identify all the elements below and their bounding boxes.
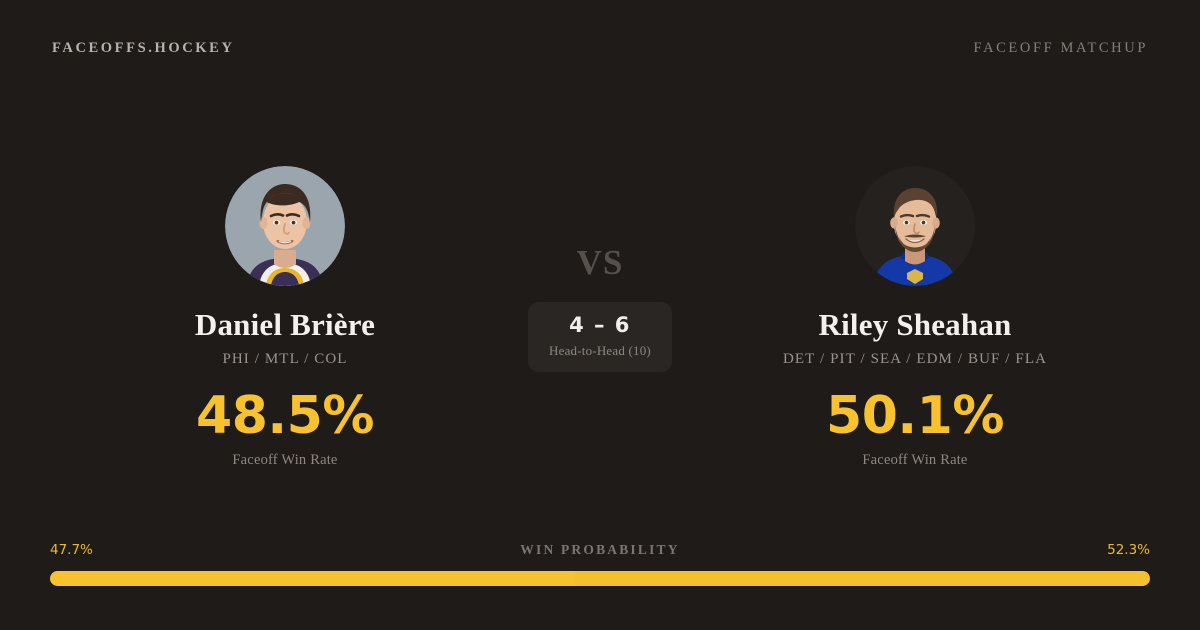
player-card-right[interactable]: Riley Sheahan DET / PIT / SEA / EDM / BU… <box>700 120 1130 469</box>
win-probability-title: WIN PROBABILITY <box>50 542 1150 558</box>
player-headshot-right <box>855 166 975 286</box>
player-headshot-left <box>225 166 345 286</box>
player-teams-left: PHI / MTL / COL <box>222 351 347 368</box>
header-bar: FACEOFFS.HOCKEY FACEOFF MATCHUP <box>0 0 1200 96</box>
win-probability-section: 47.7% WIN PROBABILITY 52.3% <box>50 539 1150 586</box>
player-name-right: Riley Sheahan <box>819 308 1012 342</box>
faceoff-pct-right: 50.1% <box>826 390 1004 442</box>
head-to-head-label: Head-to-Head (10) <box>549 343 651 359</box>
header-section-label: FACEOFF MATCHUP <box>973 40 1148 57</box>
win-probability-bar[interactable] <box>50 571 1150 586</box>
player-card-left[interactable]: Daniel Brière PHI / MTL / COL 48.5% Face… <box>70 120 500 469</box>
versus-block: VS 4 – 6 Head-to-Head (10) <box>500 120 700 372</box>
faceoff-pct-label-right: Faceoff Win Rate <box>862 452 967 469</box>
matchup-section: Daniel Brière PHI / MTL / COL 48.5% Face… <box>0 120 1200 480</box>
player-name-left: Daniel Brière <box>195 308 375 342</box>
faceoff-pct-label-left: Faceoff Win Rate <box>232 452 337 469</box>
win-probability-labels: 47.7% WIN PROBABILITY 52.3% <box>50 539 1150 561</box>
win-probability-fill-right <box>575 571 1150 586</box>
faceoff-pct-left: 48.5% <box>196 390 374 442</box>
player-teams-right: DET / PIT / SEA / EDM / BUF / FLA <box>783 351 1047 368</box>
faceoff-matchup-card: FACEOFFS.HOCKEY FACEOFF MATCHUP <box>0 0 1200 630</box>
versus-label: VS <box>577 245 624 280</box>
head-to-head-score: 4 – 6 <box>569 313 631 337</box>
site-brand-logo[interactable]: FACEOFFS.HOCKEY <box>52 40 235 57</box>
win-probability-fill-left <box>50 571 575 586</box>
head-to-head-card[interactable]: 4 – 6 Head-to-Head (10) <box>528 302 672 372</box>
